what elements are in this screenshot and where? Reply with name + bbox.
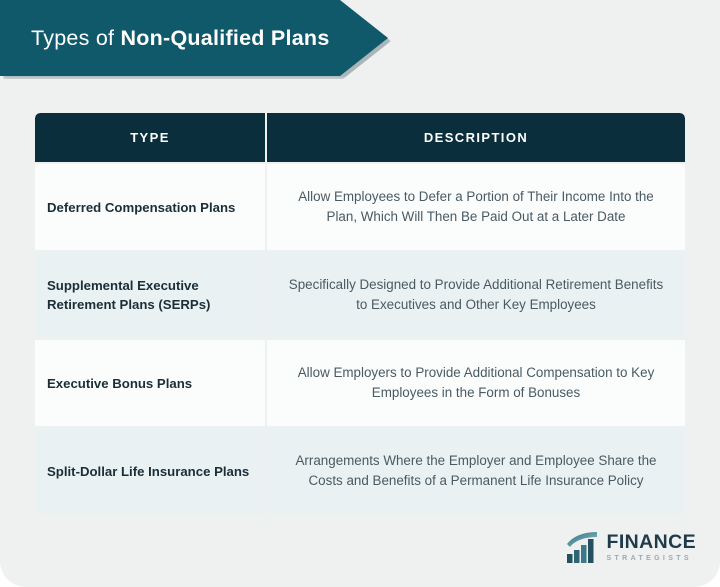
cell-type: Deferred Compensation Plans: [35, 164, 265, 250]
table-row: Supplemental Executive Retirement Plans …: [35, 252, 685, 338]
table-row: Executive Bonus Plans Allow Employers to…: [35, 340, 685, 426]
logo-wordmark: FINANCE STRATEGISTS: [607, 533, 696, 562]
brand-logo: FINANCE STRATEGISTS: [566, 532, 696, 563]
table-row: Deferred Compensation Plans Allow Employ…: [35, 164, 685, 250]
cell-type: Split-Dollar Life Insurance Plans: [35, 428, 265, 514]
table-row: Split-Dollar Life Insurance Plans Arrang…: [35, 428, 685, 514]
plans-table: TYPE DESCRIPTION Deferred Compensation P…: [35, 113, 685, 514]
bar-chart-swoosh-icon: [566, 532, 600, 563]
cell-description: Specifically Designed to Provide Additio…: [267, 252, 685, 338]
infographic-card: Types of Non-Qualified Plans TYPE DESCRI…: [0, 0, 720, 587]
page-title: Types of Non-Qualified Plans: [0, 25, 330, 51]
page-title-prefix: Types of: [31, 26, 121, 50]
logo-word: FINANCE: [607, 533, 696, 553]
table-header-row: TYPE DESCRIPTION: [35, 113, 685, 162]
column-header-description: DESCRIPTION: [267, 113, 685, 162]
page-title-strong: Non-Qualified Plans: [121, 26, 330, 50]
cell-description: Arrangements Where the Employer and Empl…: [267, 428, 685, 514]
cell-type: Executive Bonus Plans: [35, 340, 265, 426]
logo-subtitle: STRATEGISTS: [607, 555, 696, 562]
column-header-type: TYPE: [35, 113, 265, 162]
cell-description: Allow Employers to Provide Additional Co…: [267, 340, 685, 426]
header-banner: Types of Non-Qualified Plans: [0, 0, 388, 76]
cell-description: Allow Employees to Defer a Portion of Th…: [267, 164, 685, 250]
cell-type: Supplemental Executive Retirement Plans …: [35, 252, 265, 338]
